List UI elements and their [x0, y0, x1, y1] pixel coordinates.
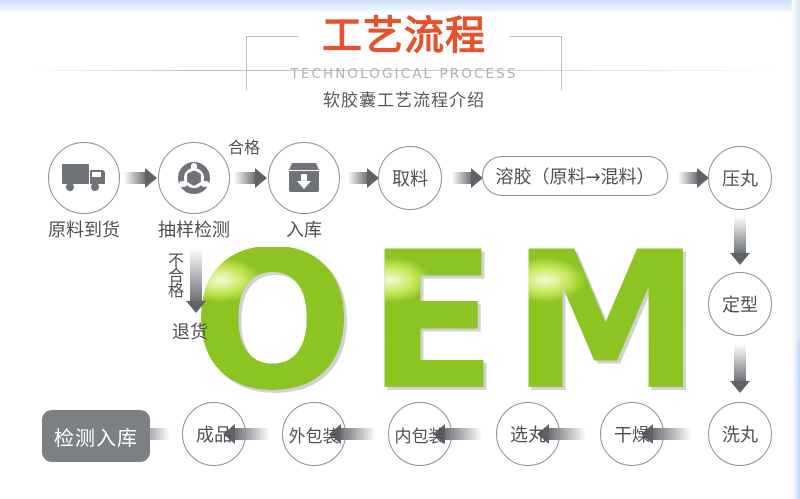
node-take-material[interactable]: 取料	[378, 146, 442, 210]
node-sampling-label: 抽样检测	[138, 216, 250, 242]
edge-label-pass: 合格	[228, 134, 260, 158]
arrow-take-to-solgel	[452, 172, 472, 184]
arrow-solgel-to-press	[678, 172, 698, 184]
edge-label-fail: 不合格	[162, 252, 186, 314]
inbox-arrow-icon	[282, 161, 326, 195]
arrow-warehouse-to-take	[348, 172, 368, 184]
node-drying-label: 干燥	[614, 421, 650, 447]
node-return-goods-label: 退货	[152, 318, 228, 344]
node-inner-pack[interactable]: 内包装	[388, 402, 452, 466]
node-final-check-label: 检测入库	[54, 422, 138, 451]
page-subtitle-en: TECHNOLOGICAL PROCESS	[246, 66, 562, 82]
arrow-shaping-to-washing	[734, 344, 746, 382]
process-flow-infographic: 工艺流程 TECHNOLOGICAL PROCESS 软胶囊工艺流程介绍 O E…	[0, 0, 800, 499]
node-take-material-label: 取料	[392, 165, 428, 191]
node-select-pill[interactable]: 选丸	[496, 402, 560, 466]
node-press-pill[interactable]: 压丸	[708, 146, 772, 210]
oem-letter-e: E	[367, 247, 497, 397]
right-ambient-band-lower	[795, 340, 800, 499]
oem-letter-m: M	[511, 247, 700, 397]
node-press-pill-label: 压丸	[722, 165, 758, 191]
arrow-press-to-shaping	[734, 216, 746, 254]
truck-icon	[62, 161, 106, 195]
node-raw-arrival-label: 原料到货	[28, 216, 140, 242]
sample-ring-icon	[172, 161, 216, 195]
node-outer-pack-label: 外包装	[289, 422, 340, 447]
oem-watermark: O E M	[196, 236, 696, 408]
node-select-pill-label: 选丸	[510, 421, 546, 447]
node-inner-pack-label: 内包装	[395, 422, 446, 447]
node-sol-gel-label: 溶胶（原料→混料）	[495, 163, 654, 189]
header-block: 工艺流程 TECHNOLOGICAL PROCESS 软胶囊工艺流程介绍	[246, 14, 562, 110]
node-warehousing-label: 入库	[258, 216, 350, 242]
node-drying[interactable]: 干燥	[600, 402, 664, 466]
node-finished-label: 成品	[196, 421, 232, 447]
node-shaping[interactable]: 定型	[708, 272, 772, 336]
arrow-sampling-to-return	[190, 248, 202, 302]
page-title: 工艺流程	[246, 14, 562, 58]
arrow-sampling-to-warehouse	[234, 172, 256, 184]
node-warehousing[interactable]	[268, 142, 340, 214]
node-raw-arrival[interactable]	[48, 142, 120, 214]
node-washing[interactable]: 洗丸	[708, 402, 772, 466]
node-shaping-label: 定型	[722, 291, 758, 317]
node-outer-pack[interactable]: 外包装	[282, 402, 346, 466]
page-subtitle-cn: 软胶囊工艺流程介绍	[246, 90, 562, 112]
node-sol-gel[interactable]: 溶胶（原料→混料）	[482, 156, 668, 196]
node-washing-label: 洗丸	[722, 421, 758, 447]
node-sampling[interactable]	[158, 142, 230, 214]
node-finished[interactable]: 成品	[182, 402, 246, 466]
arrow-raw-to-sampling	[124, 172, 146, 184]
top-ambient-band	[0, 0, 800, 13]
node-final-check[interactable]: 检测入库	[42, 410, 150, 462]
